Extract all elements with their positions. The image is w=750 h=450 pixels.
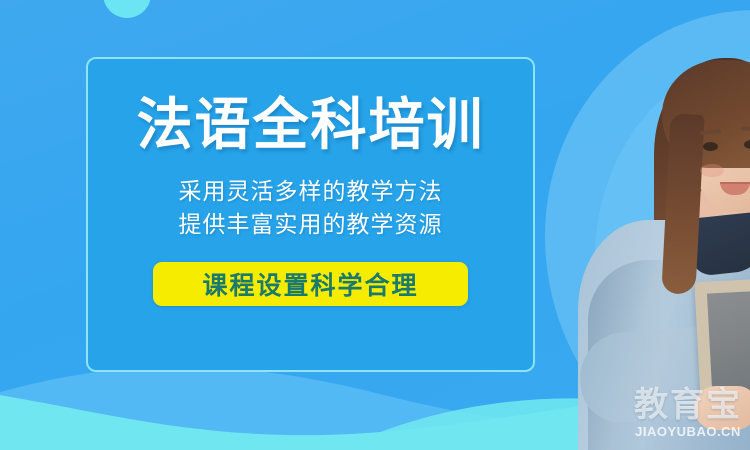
hand — [694, 386, 750, 430]
cta-button[interactable]: 课程设置科学合理 — [153, 262, 468, 306]
blush — [700, 164, 724, 177]
eye-left — [703, 142, 718, 151]
content-card: 法语全科培训 采用灵活多样的教学方法 提供丰富实用的教学资源 课程设置科学合理 — [86, 57, 535, 372]
subtitle-group: 采用灵活多样的教学方法 提供丰富实用的教学资源 — [179, 175, 443, 240]
accent-circle-top — [103, 0, 151, 18]
course-promo-banner: 法语全科培训 采用灵活多样的教学方法 提供丰富实用的教学资源 课程设置科学合理 … — [0, 0, 750, 450]
student-photo — [570, 30, 750, 450]
page-title: 法语全科培训 — [137, 97, 485, 153]
subtitle-line-2: 提供丰富实用的教学资源 — [179, 208, 443, 241]
subtitle-line-1: 采用灵活多样的教学方法 — [179, 175, 443, 208]
